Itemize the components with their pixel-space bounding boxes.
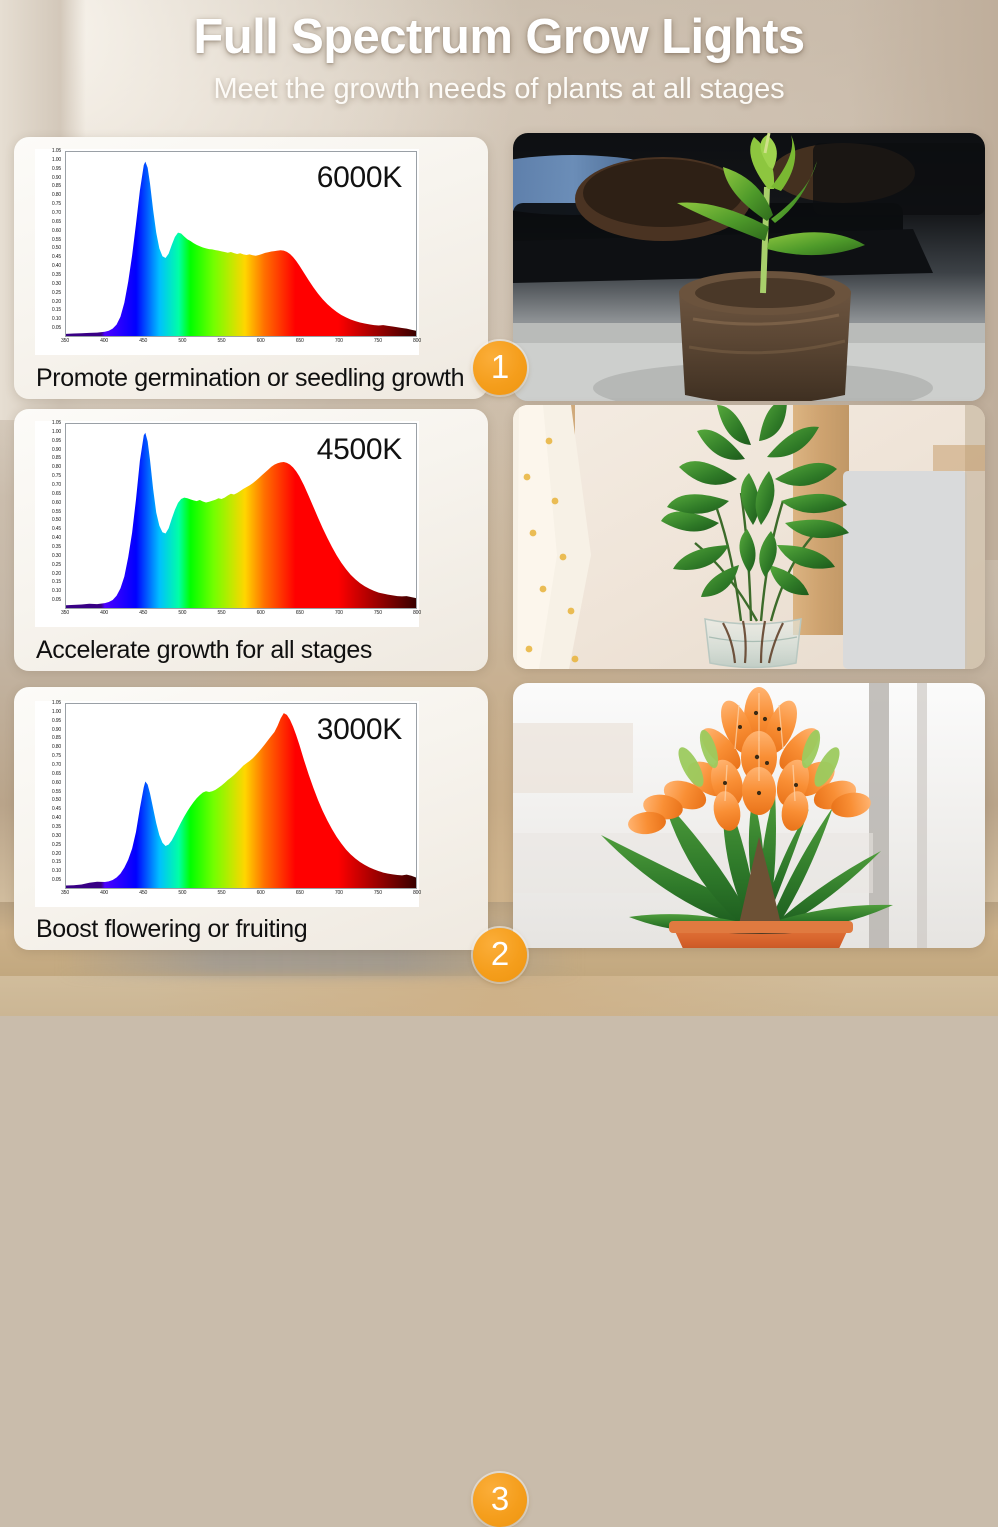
y-tick-label: 0.50 — [52, 797, 61, 803]
y-tick-label: 0.45 — [52, 806, 61, 812]
y-tick-label: 1.05 — [52, 700, 61, 706]
y-tick-label: 0.55 — [52, 789, 61, 795]
y-tick-label: 0.80 — [52, 744, 61, 750]
y-tick-label: 0.10 — [52, 316, 61, 322]
x-tick-label: 550 — [217, 338, 225, 344]
x-tick-label: 450 — [139, 890, 147, 896]
x-axis-ticks: 350400450500550600650700750800 — [65, 338, 417, 352]
y-tick-label: 0.95 — [52, 718, 61, 724]
y-axis-ticks: 1.051.000.950.900.850.800.750.700.650.60… — [35, 703, 63, 889]
spectrum-plot: 1.051.000.950.900.850.800.750.700.650.60… — [35, 149, 419, 355]
y-tick-label: 0.95 — [52, 166, 61, 172]
x-tick-label: 400 — [100, 338, 108, 344]
y-tick-label: 1.05 — [52, 420, 61, 426]
y-tick-label: 0.20 — [52, 851, 61, 857]
y-tick-label: 0.90 — [52, 727, 61, 733]
y-tick-label: 0.40 — [52, 815, 61, 821]
y-tick-label: 0.50 — [52, 245, 61, 251]
x-tick-label: 350 — [61, 338, 69, 344]
x-tick-label: 750 — [374, 890, 382, 896]
plot-area: 4500K — [65, 423, 417, 609]
x-tick-label: 350 — [61, 610, 69, 616]
y-tick-label: 0.10 — [52, 868, 61, 874]
y-tick-label: 0.05 — [52, 877, 61, 883]
step-badge-3: 3 — [473, 1473, 527, 1527]
y-tick-label: 0.10 — [52, 588, 61, 594]
y-tick-label: 0.75 — [52, 201, 61, 207]
feature-caption: Boost flowering or fruiting — [36, 915, 478, 944]
page-subtitle: Meet the growth needs of plants at all s… — [0, 68, 998, 110]
y-tick-label: 0.35 — [52, 544, 61, 550]
spectrum-chart-0: 1.051.000.950.900.850.800.750.700.650.60… — [35, 149, 419, 355]
clivia-photo-art — [513, 683, 985, 948]
plot-area: 6000K — [65, 151, 417, 337]
x-tick-label: 800 — [413, 338, 421, 344]
y-tick-label: 0.60 — [52, 780, 61, 786]
y-tick-label: 0.60 — [52, 500, 61, 506]
spectrum-chart-1: 1.051.000.950.900.850.800.750.700.650.60… — [35, 421, 419, 627]
spectrum-plot: 1.051.000.950.900.850.800.750.700.650.60… — [35, 701, 419, 907]
x-tick-label: 500 — [178, 610, 186, 616]
feature-row: 1.051.000.950.900.850.800.750.700.650.60… — [0, 137, 998, 399]
feature-rows: 1.051.000.950.900.850.800.750.700.650.60… — [0, 0, 998, 976]
feature-photo-houseplant — [513, 405, 985, 669]
y-tick-label: 1.00 — [52, 709, 61, 715]
x-tick-label: 500 — [178, 338, 186, 344]
feature-caption: Accelerate growth for all stages — [36, 636, 478, 665]
y-tick-label: 0.75 — [52, 473, 61, 479]
x-tick-label: 700 — [335, 610, 343, 616]
seedling-photo-art — [513, 133, 985, 401]
x-tick-label: 650 — [296, 890, 304, 896]
y-tick-label: 0.05 — [52, 597, 61, 603]
x-tick-label: 650 — [296, 338, 304, 344]
y-tick-label: 0.15 — [52, 307, 61, 313]
y-axis-ticks: 1.051.000.950.900.850.800.750.700.650.60… — [35, 151, 63, 337]
x-axis-ticks: 350400450500550600650700750800 — [65, 890, 417, 904]
y-tick-label: 0.40 — [52, 263, 61, 269]
x-tick-label: 500 — [178, 890, 186, 896]
y-tick-label: 0.65 — [52, 491, 61, 497]
y-tick-label: 0.70 — [52, 210, 61, 216]
feature-caption: Promote germination or seedling growth — [36, 364, 478, 393]
y-tick-label: 0.30 — [52, 281, 61, 287]
y-tick-label: 0.65 — [52, 219, 61, 225]
y-tick-label: 0.70 — [52, 762, 61, 768]
y-tick-label: 0.15 — [52, 859, 61, 865]
y-tick-label: 0.75 — [52, 753, 61, 759]
x-tick-label: 750 — [374, 338, 382, 344]
y-tick-label: 0.85 — [52, 735, 61, 741]
feature-row: 1.051.000.950.900.850.800.750.700.650.60… — [0, 409, 998, 671]
spectrum-card: 1.051.000.950.900.850.800.750.700.650.60… — [14, 409, 488, 671]
x-tick-label: 350 — [61, 890, 69, 896]
step-badge-2: 2 — [473, 928, 527, 982]
x-tick-label: 800 — [413, 610, 421, 616]
y-tick-label: 0.55 — [52, 237, 61, 243]
y-tick-label: 0.90 — [52, 447, 61, 453]
page-title: Full Spectrum Grow Lights — [0, 0, 998, 68]
y-tick-label: 1.05 — [52, 148, 61, 154]
x-tick-label: 450 — [139, 610, 147, 616]
y-tick-label: 0.70 — [52, 482, 61, 488]
y-tick-label: 0.45 — [52, 526, 61, 532]
y-tick-label: 0.25 — [52, 562, 61, 568]
feature-row: 1.051.000.950.900.850.800.750.700.650.60… — [0, 687, 998, 950]
x-tick-label: 600 — [257, 338, 265, 344]
y-tick-label: 0.30 — [52, 833, 61, 839]
y-tick-label: 0.35 — [52, 824, 61, 830]
houseplant-photo-art — [513, 405, 985, 669]
spectrum-plot: 1.051.000.950.900.850.800.750.700.650.60… — [35, 421, 419, 627]
y-tick-label: 1.00 — [52, 429, 61, 435]
y-tick-label: 0.15 — [52, 579, 61, 585]
x-tick-label: 700 — [335, 338, 343, 344]
y-axis-ticks: 1.051.000.950.900.850.800.750.700.650.60… — [35, 423, 63, 609]
y-tick-label: 0.90 — [52, 175, 61, 181]
y-tick-label: 1.00 — [52, 157, 61, 163]
y-tick-label: 0.25 — [52, 842, 61, 848]
spectrum-chart-2: 1.051.000.950.900.850.800.750.700.650.60… — [35, 701, 419, 907]
y-tick-label: 0.25 — [52, 290, 61, 296]
y-tick-label: 0.40 — [52, 535, 61, 541]
x-tick-label: 550 — [217, 610, 225, 616]
x-tick-label: 600 — [257, 890, 265, 896]
y-tick-label: 0.80 — [52, 464, 61, 470]
y-tick-label: 0.85 — [52, 183, 61, 189]
y-tick-label: 0.55 — [52, 509, 61, 515]
color-temperature-label: 6000K — [317, 161, 402, 195]
spectrum-card: 1.051.000.950.900.850.800.750.700.650.60… — [14, 137, 488, 399]
y-tick-label: 0.50 — [52, 517, 61, 523]
x-tick-label: 750 — [374, 610, 382, 616]
y-tick-label: 0.35 — [52, 272, 61, 278]
y-tick-label: 0.85 — [52, 455, 61, 461]
feature-photo-seedling — [513, 133, 985, 401]
feature-photo-flowers — [513, 683, 985, 948]
x-tick-label: 600 — [257, 610, 265, 616]
y-tick-label: 0.65 — [52, 771, 61, 777]
y-tick-label: 0.80 — [52, 192, 61, 198]
header: Full Spectrum Grow Lights Meet the growt… — [0, 0, 998, 110]
x-tick-label: 400 — [100, 890, 108, 896]
x-tick-label: 800 — [413, 890, 421, 896]
y-tick-label: 0.95 — [52, 438, 61, 444]
spectrum-card: 1.051.000.950.900.850.800.750.700.650.60… — [14, 687, 488, 950]
y-tick-label: 0.60 — [52, 228, 61, 234]
x-tick-label: 650 — [296, 610, 304, 616]
x-tick-label: 550 — [217, 890, 225, 896]
x-tick-label: 400 — [100, 610, 108, 616]
x-axis-ticks: 350400450500550600650700750800 — [65, 610, 417, 624]
step-badge-1: 1 — [473, 341, 527, 395]
y-tick-label: 0.05 — [52, 325, 61, 331]
y-tick-label: 0.30 — [52, 553, 61, 559]
color-temperature-label: 3000K — [317, 713, 402, 747]
color-temperature-label: 4500K — [317, 433, 402, 467]
plot-area: 3000K — [65, 703, 417, 889]
y-tick-label: 0.20 — [52, 571, 61, 577]
y-tick-label: 0.45 — [52, 254, 61, 260]
y-tick-label: 0.20 — [52, 299, 61, 305]
x-tick-label: 450 — [139, 338, 147, 344]
x-tick-label: 700 — [335, 890, 343, 896]
